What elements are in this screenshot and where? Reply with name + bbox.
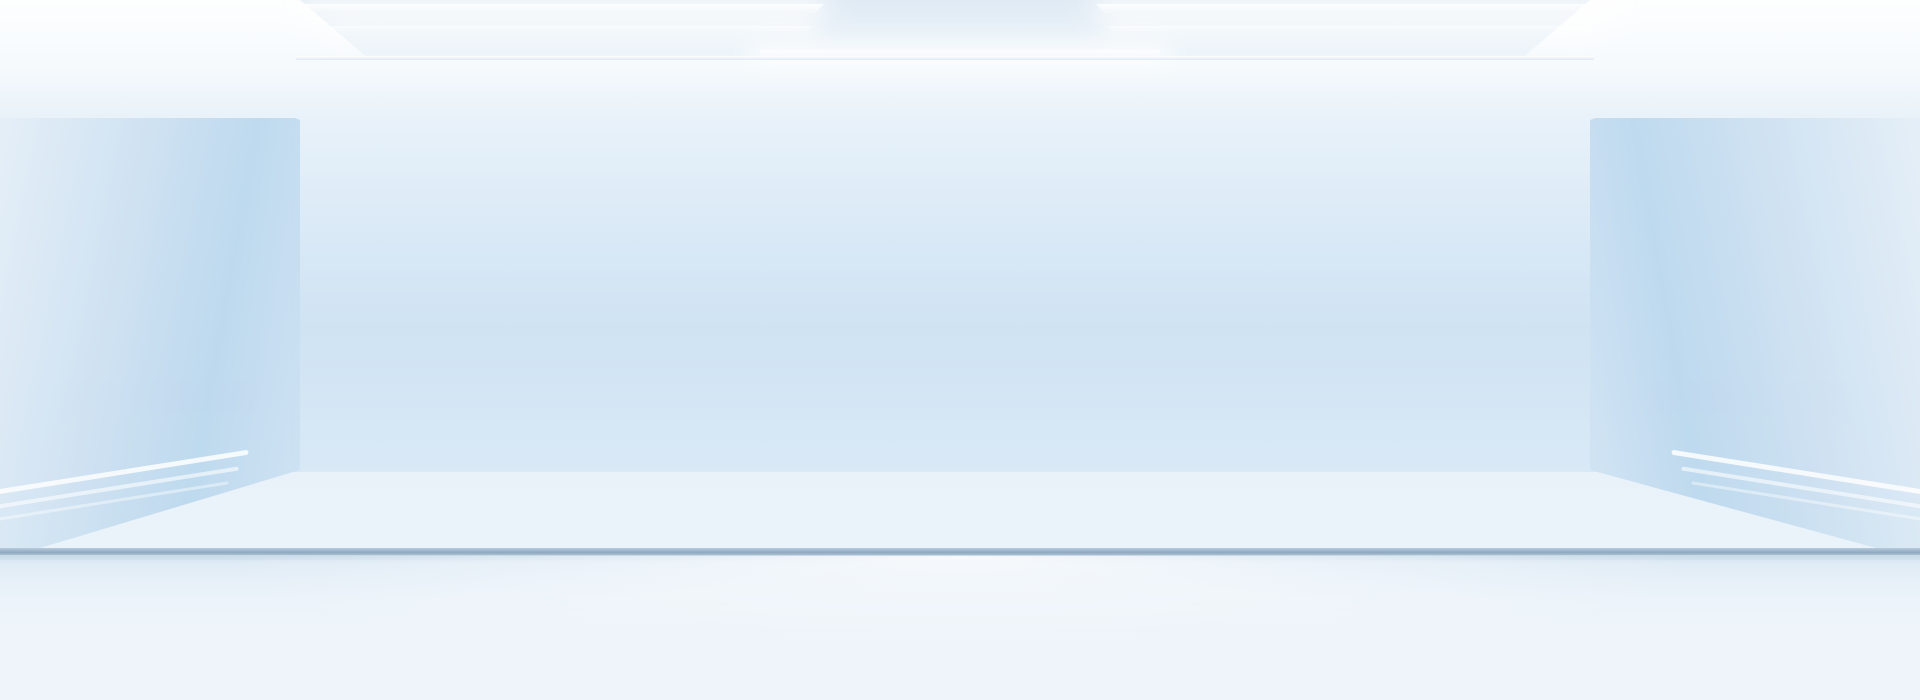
certificate-shelf bbox=[0, 0, 1920, 700]
banner-stage bbox=[0, 0, 1920, 700]
